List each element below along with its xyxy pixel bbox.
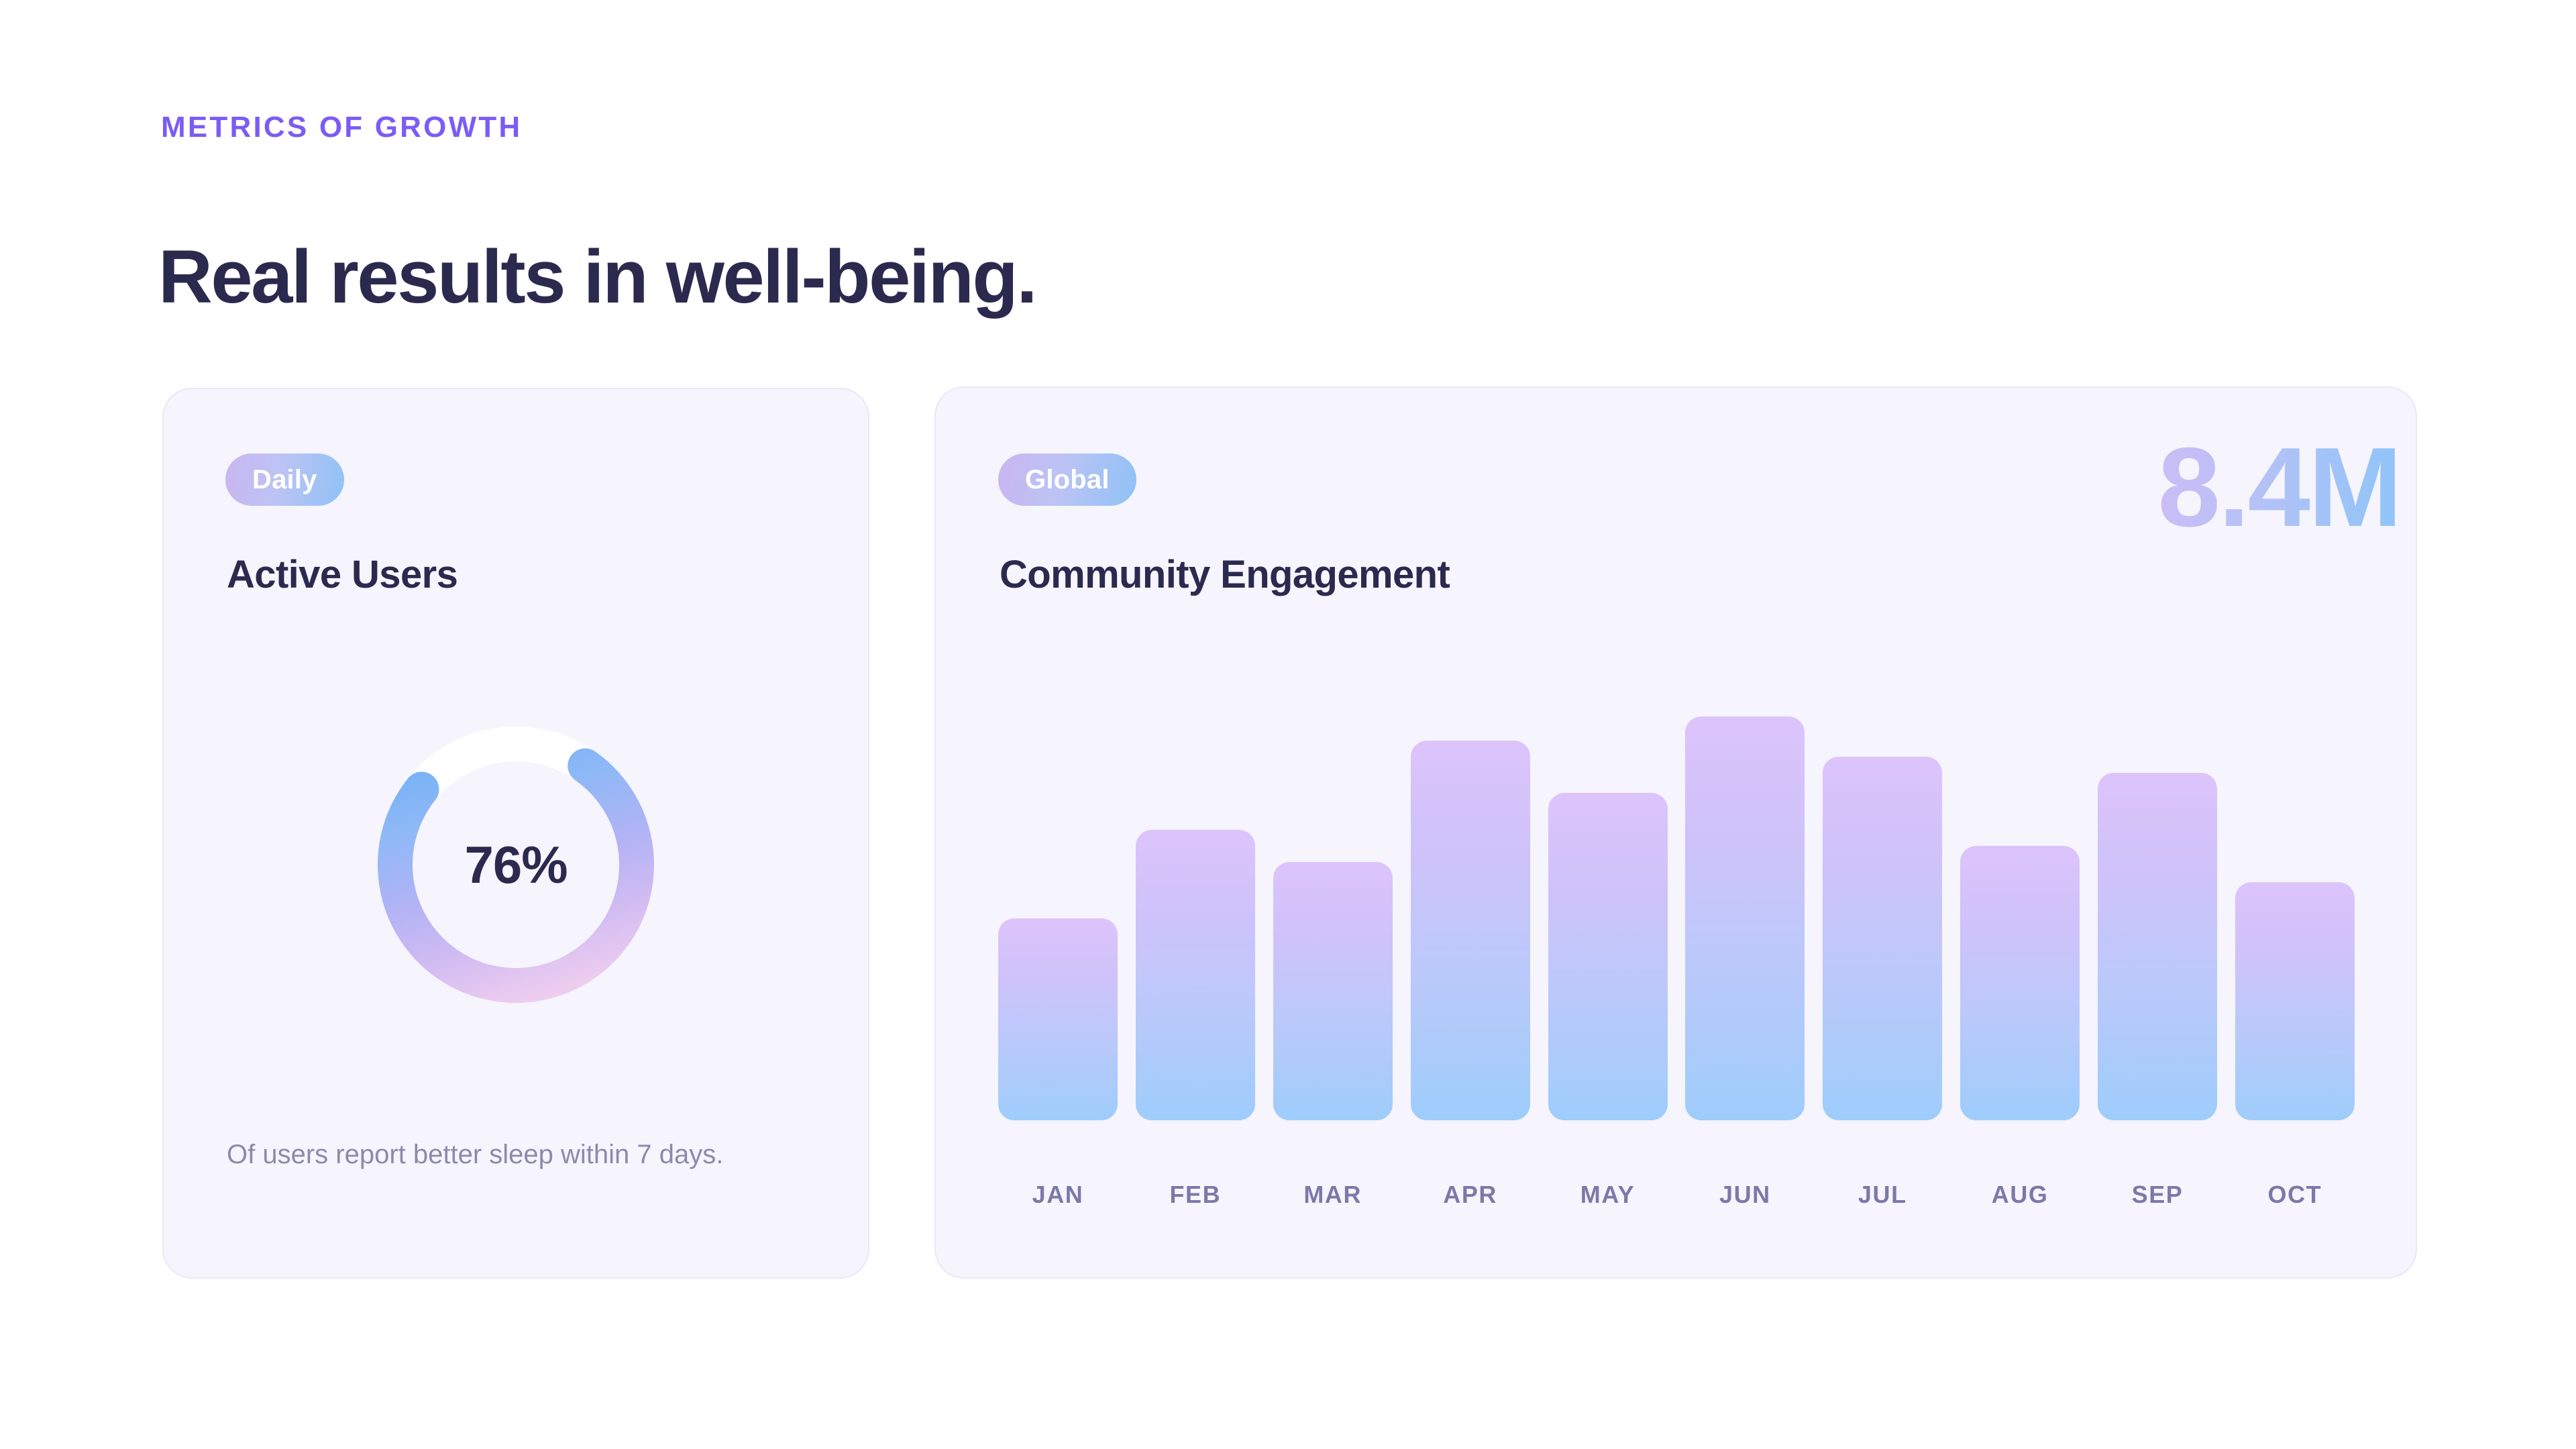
- bar-jul[interactable]: [1823, 757, 1942, 1120]
- bar-sep[interactable]: [2098, 773, 2217, 1120]
- bar-column[interactable]: [1548, 716, 1668, 1120]
- badge-daily[interactable]: Daily: [225, 453, 344, 506]
- bar-jun[interactable]: [1685, 716, 1805, 1120]
- community-engagement-title: Community Engagement: [1000, 555, 1450, 594]
- engagement-total-stat: 8.4M: [2158, 431, 2401, 543]
- bar-column[interactable]: [1685, 716, 1805, 1120]
- bar-column[interactable]: [1960, 716, 2080, 1120]
- bar-column[interactable]: [1823, 716, 1942, 1120]
- active-users-title: Active Users: [227, 555, 458, 594]
- bar-column[interactable]: [998, 716, 1118, 1120]
- axis-label-apr: APR: [1411, 1181, 1530, 1209]
- bar-column[interactable]: [1136, 716, 1255, 1120]
- axis-label-oct: OCT: [2235, 1181, 2355, 1209]
- bar-column[interactable]: [1273, 716, 1393, 1120]
- active-users-donut-chart: 76%: [361, 710, 671, 1020]
- bar-oct[interactable]: [2235, 882, 2355, 1120]
- section-eyebrow: METRICS OF GROWTH: [161, 113, 522, 142]
- bar-jan[interactable]: [998, 918, 1118, 1120]
- bar-series: [998, 716, 2355, 1120]
- page-title: Real results in well-being.: [158, 233, 1036, 321]
- engagement-bar-chart: JANFEBMARAPRMAYJUNJULAUGSEPOCT: [998, 711, 2355, 1120]
- axis-label-mar: MAR: [1273, 1181, 1393, 1209]
- bar-column[interactable]: [2098, 716, 2217, 1120]
- bar-column[interactable]: [1411, 716, 1530, 1120]
- bar-aug[interactable]: [1960, 846, 2080, 1120]
- bar-may[interactable]: [1548, 793, 1668, 1120]
- badge-global[interactable]: Global: [998, 453, 1136, 506]
- bar-axis-labels: JANFEBMARAPRMAYJUNJULAUGSEPOCT: [998, 1181, 2355, 1209]
- axis-label-may: MAY: [1548, 1181, 1668, 1209]
- bar-mar[interactable]: [1273, 862, 1393, 1120]
- bar-feb[interactable]: [1136, 830, 1255, 1120]
- bar-column[interactable]: [2235, 716, 2355, 1120]
- axis-label-aug: AUG: [1960, 1181, 2080, 1209]
- axis-label-sep: SEP: [2098, 1181, 2217, 1209]
- axis-label-feb: FEB: [1136, 1181, 1255, 1209]
- active-users-caption: Of users report better sleep within 7 da…: [227, 1135, 784, 1174]
- page-root: METRICS OF GROWTH Real results in well-b…: [0, 0, 2576, 1449]
- donut-percentage-label: 76%: [361, 710, 671, 1020]
- axis-label-jun: JUN: [1685, 1181, 1805, 1209]
- axis-label-jul: JUL: [1823, 1181, 1942, 1209]
- axis-label-jan: JAN: [998, 1181, 1118, 1209]
- bar-apr[interactable]: [1411, 741, 1530, 1120]
